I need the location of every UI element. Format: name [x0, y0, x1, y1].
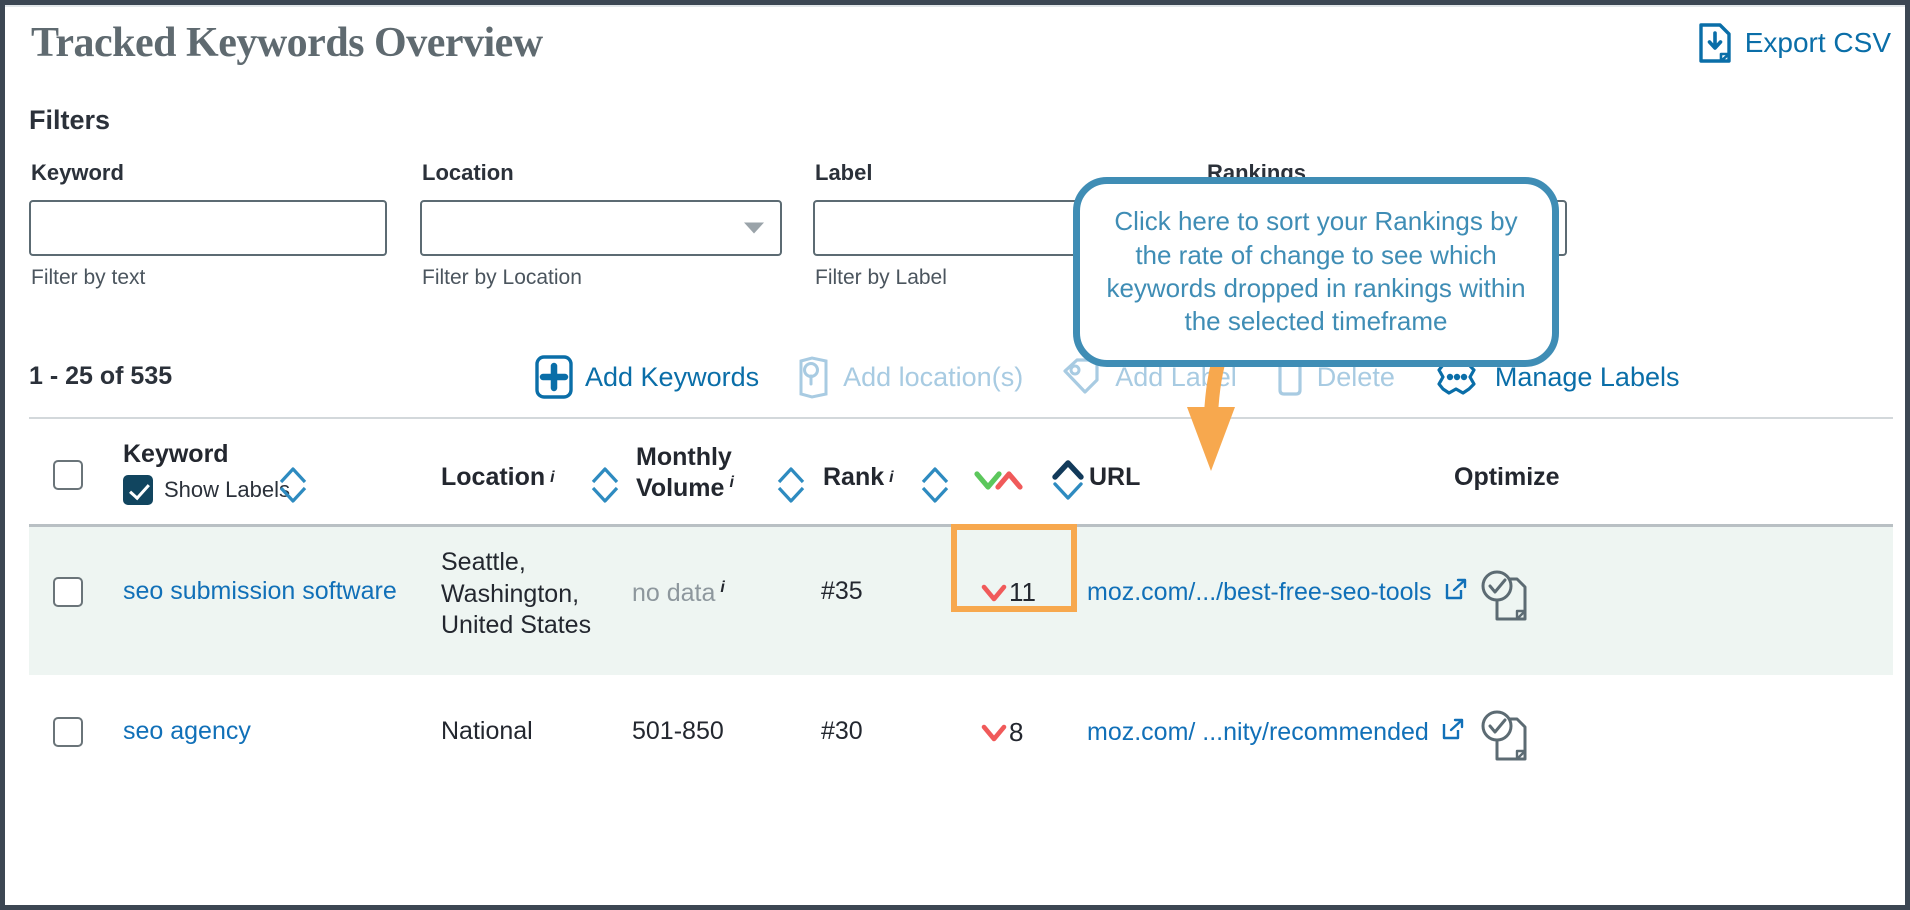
sort-by-change-highlight-box: [951, 524, 1077, 612]
row-location-line1: Seattle,: [441, 547, 591, 579]
row-checkbox[interactable]: [53, 717, 83, 747]
export-csv-label: Export CSV: [1745, 27, 1891, 59]
row-url-link[interactable]: moz.com/ ...nity/recommended: [1087, 718, 1429, 747]
row-keyword-link[interactable]: seo submission software: [123, 577, 397, 606]
table-header-row: Keyword Show Labels Location i Monthly: [29, 430, 1893, 524]
plus-box-icon: [535, 355, 573, 399]
row-rank: #35: [821, 577, 863, 606]
table-row[interactable]: seo agency National 501-850 #30 8 moz.co…: [29, 677, 1893, 807]
row-monthly-volume: no data i: [632, 579, 725, 608]
filter-keyword-label: Keyword: [31, 160, 387, 186]
row-location: Seattle, Washington, United States: [441, 547, 591, 642]
sort-rank-change-button[interactable]: [1051, 456, 1085, 511]
monthly-volume-row-info-icon[interactable]: i: [720, 579, 724, 597]
add-locations-label: Add location(s): [843, 362, 1023, 393]
col-header-monthly-volume[interactable]: Monthly Volume i: [636, 442, 734, 503]
rank-change-updown-icon: [974, 466, 1024, 496]
col-header-url-label: URL: [1089, 463, 1140, 492]
col-header-optimize-label: Optimize: [1454, 463, 1560, 492]
add-keywords-label: Add Keywords: [585, 362, 759, 393]
external-link-icon[interactable]: [1441, 717, 1465, 748]
row-select-cell: [53, 577, 83, 607]
col-header-rank-change-icon: [974, 466, 1024, 496]
row-rank-change: 8: [981, 717, 1023, 748]
chevron-down-icon: [981, 722, 1007, 744]
result-count: 1 - 25 of 535: [29, 362, 172, 391]
filter-location-label: Location: [422, 160, 782, 186]
row-optimize-button[interactable]: [1477, 705, 1533, 774]
sort-monthly-volume-button[interactable]: [775, 462, 807, 513]
tracked-keywords-panel: Tracked Keywords Overview Export CSV Fil…: [0, 0, 1910, 910]
external-link-icon[interactable]: [1444, 577, 1468, 608]
filter-location: Location Filter by Location: [420, 160, 782, 290]
filters-section-title: Filters: [29, 105, 110, 136]
filter-keyword-hint: Filter by text: [31, 266, 387, 290]
page-title: Tracked Keywords Overview: [31, 19, 543, 67]
filter-keyword-input[interactable]: [29, 200, 387, 256]
sort-location-button[interactable]: [589, 462, 621, 513]
row-optimize-button[interactable]: [1477, 565, 1533, 634]
row-monthly-volume: 501-850: [632, 717, 724, 746]
row-checkbox[interactable]: [53, 577, 83, 607]
monthly-volume-info-icon[interactable]: i: [729, 473, 733, 493]
row-rank: #30: [821, 717, 863, 746]
sort-keyword-button[interactable]: [277, 462, 309, 513]
col-header-url[interactable]: URL: [1089, 463, 1140, 492]
col-header-rank[interactable]: Rank i: [823, 463, 894, 492]
col-header-keyword-label: Keyword: [123, 440, 229, 469]
rank-info-icon[interactable]: i: [889, 469, 893, 487]
col-header-rank-label: Rank: [823, 463, 884, 492]
col-header-location-label: Location: [441, 463, 545, 492]
annotation-callout: Click here to sort your Rankings by the …: [1073, 177, 1559, 367]
row-rank-change-value: 8: [1009, 717, 1023, 748]
optimize-document-check-icon: [1477, 565, 1533, 627]
sort-rank-button[interactable]: [919, 462, 951, 513]
row-select-cell: [53, 717, 83, 747]
col-header-monthly-volume-line1: Monthly: [636, 442, 732, 473]
col-header-location[interactable]: Location i: [441, 463, 555, 492]
chevron-down-icon: [744, 223, 764, 234]
row-location: National: [441, 717, 533, 746]
col-header-monthly-volume-line2: Volume: [636, 473, 724, 504]
map-pin-icon: [797, 355, 831, 399]
filter-location-select[interactable]: [420, 200, 782, 256]
add-keywords-button[interactable]: Add Keywords: [535, 355, 759, 399]
row-location-line2: Washington,: [441, 579, 591, 611]
download-document-icon: [1698, 23, 1732, 63]
row-divider: [5, 5, 1905, 7]
row-location-line3: United States: [441, 610, 591, 642]
location-info-icon[interactable]: i: [550, 469, 554, 487]
toolbar-divider: [29, 417, 1893, 419]
row-keyword-link[interactable]: seo agency: [123, 717, 251, 746]
annotation-callout-text: Click here to sort your Rankings by the …: [1080, 205, 1552, 338]
optimize-document-check-icon: [1477, 705, 1533, 767]
select-all-checkbox-cell: [53, 460, 83, 490]
row-url-cell[interactable]: moz.com/ ...nity/recommended: [1087, 717, 1465, 748]
filter-keyword: Keyword Filter by text: [29, 160, 387, 290]
col-header-optimize: Optimize: [1454, 463, 1560, 492]
col-header-keyword[interactable]: Keyword Show Labels: [123, 440, 290, 505]
row-url-cell[interactable]: moz.com/.../best-free-seo-tools: [1087, 577, 1468, 608]
row-monthly-volume-value: no data: [632, 579, 715, 608]
row-url-link[interactable]: moz.com/.../best-free-seo-tools: [1087, 578, 1432, 607]
select-all-checkbox[interactable]: [53, 460, 83, 490]
show-labels-checkbox[interactable]: [123, 475, 153, 505]
add-locations-button[interactable]: Add location(s): [797, 355, 1023, 399]
filter-location-hint: Filter by Location: [422, 266, 782, 290]
show-labels-label: Show Labels: [164, 477, 290, 503]
export-csv-button[interactable]: Export CSV: [1698, 23, 1891, 63]
